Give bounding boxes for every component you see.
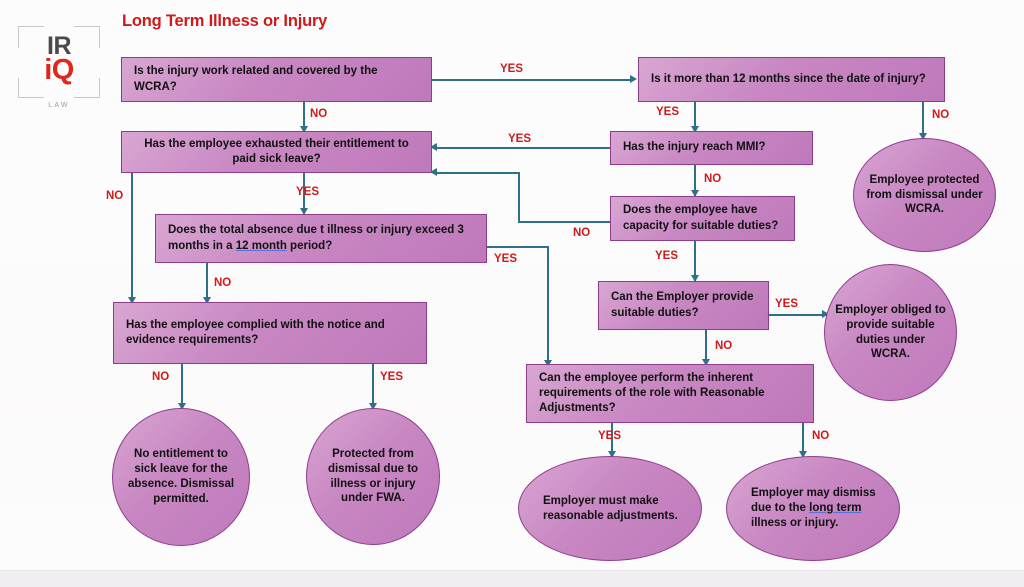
edge-label-q8-yes: YES xyxy=(775,298,798,310)
node-q8-employer-suitable-duties[interactable]: Can the Employer provide suitable duties… xyxy=(598,281,769,330)
node-q5-text-post: period? xyxy=(287,240,332,252)
logo-text-iq: iQ xyxy=(18,56,100,85)
edge-label-q1-no: NO xyxy=(310,108,327,120)
edge-q5-yes-line-h xyxy=(487,246,549,248)
outcome-protected-from-dismissal-fwa[interactable]: Protected from dismissal due to illness … xyxy=(306,408,440,545)
flowchart-canvas: IR iQ LAW Long Term Illness or Injury YE… xyxy=(0,0,1024,587)
edge-q6-no-line-h1 xyxy=(518,221,618,223)
edge-label-q6-no: NO xyxy=(573,227,590,239)
outcome-o6-link-long-term[interactable]: long term xyxy=(809,502,861,514)
edge-label-q3-yes: YES xyxy=(296,186,319,198)
edge-q7-yes-line xyxy=(372,364,374,408)
edge-label-q4-yes: YES xyxy=(508,133,531,145)
bottom-bar xyxy=(0,570,1024,587)
edge-label-q8-no: NO xyxy=(715,340,732,352)
outcome-no-entitlement-dismissal-permitted[interactable]: No entitlement to sick leave for the abs… xyxy=(112,408,250,546)
logo-tagline-law: LAW xyxy=(18,102,100,109)
outcome-employer-must-make-adjustments[interactable]: Employer must make reasonable adjustment… xyxy=(518,456,702,561)
edge-q5-yes-line-v xyxy=(547,246,549,364)
outcome-employee-protected-wcra[interactable]: Employee protected from dismissal under … xyxy=(853,138,996,252)
edge-q7-no-line xyxy=(181,364,183,408)
logo-frame-gap-top xyxy=(44,24,74,28)
node-q6-capacity-suitable-duties[interactable]: Does the employee have capacity for suit… xyxy=(610,196,795,241)
node-q3-exhausted-sick-leave[interactable]: Has the employee exhausted their entitle… xyxy=(121,131,432,173)
edge-label-q7-no: NO xyxy=(152,371,169,383)
edge-label-q2-no: NO xyxy=(932,109,949,121)
node-q2-more-than-12-months[interactable]: Is it more than 12 months since the date… xyxy=(638,57,945,102)
node-q5-link-12-month[interactable]: 12 month xyxy=(236,240,287,252)
iriq-law-logo: IR iQ xyxy=(18,26,100,98)
node-q9-inherent-requirements[interactable]: Can the employee perform the inherent re… xyxy=(526,364,814,423)
edge-label-q5-yes: YES xyxy=(494,253,517,265)
edge-label-q5-no: NO xyxy=(214,277,231,289)
node-q5-total-absence[interactable]: Does the total absence due t illness or … xyxy=(155,214,487,263)
edge-q8-yes-line xyxy=(769,314,827,316)
edge-label-q1-yes: YES xyxy=(500,63,523,75)
outcome-employer-obliged-suitable-duties[interactable]: Employer obliged to provide suitable dut… xyxy=(824,264,957,401)
edge-q1-yes-arrowhead xyxy=(630,75,637,83)
edge-label-q6-yes: YES xyxy=(655,250,678,262)
edge-label-q9-yes: YES xyxy=(598,430,621,442)
edge-q6-no-line-v xyxy=(518,172,520,223)
outcome-employer-may-dismiss[interactable]: Employer may dismiss due to the long ter… xyxy=(726,456,900,561)
edge-q3-no-line xyxy=(131,172,133,302)
edge-label-q9-no: NO xyxy=(812,430,829,442)
edge-label-q3-no: NO xyxy=(106,190,123,202)
edge-label-q7-yes: YES xyxy=(380,371,403,383)
page-title: Long Term Illness or Injury xyxy=(122,12,327,31)
edge-label-q2-yes: YES xyxy=(656,106,679,118)
edge-label-q4-no: NO xyxy=(704,173,721,185)
logo-frame-gap-bottom xyxy=(44,96,74,100)
edge-q1-yes-line xyxy=(432,79,632,81)
node-q1-wcra-covered[interactable]: Is the injury work related and covered b… xyxy=(121,57,432,102)
edge-q4-yes-line xyxy=(436,147,610,149)
node-q4-mmi[interactable]: Has the injury reach MMI? xyxy=(610,131,813,165)
node-q7-notice-evidence[interactable]: Has the employee complied with the notic… xyxy=(113,302,427,364)
edge-q6-no-line-h2 xyxy=(436,172,520,174)
outcome-o6-text-post: illness or injury. xyxy=(751,517,838,529)
